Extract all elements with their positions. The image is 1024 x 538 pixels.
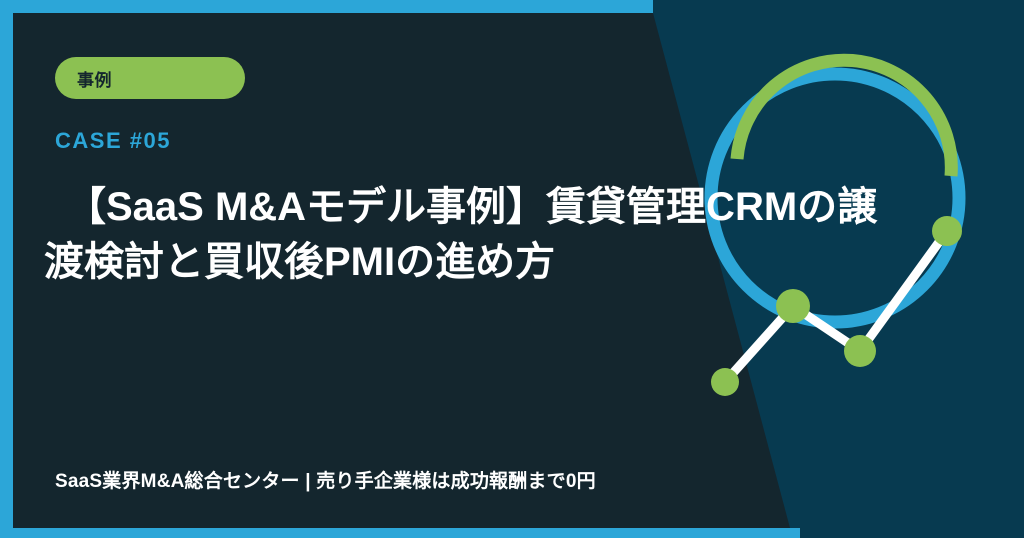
text-content-layer: 事例 CASE #05 【SaaS M&Aモデル事例】賃貸管理CRMの譲渡検討と… <box>0 0 1024 538</box>
page-title: 【SaaS M&Aモデル事例】賃貸管理CRMの譲渡検討と買収後PMIの進め方 <box>44 180 884 290</box>
category-badge-label: 事例 <box>77 66 112 91</box>
footer-tagline: SaaS業界M&A総合センター | 売り手企業様は成功報酬まで0円 <box>55 466 596 493</box>
slide-canvas: 事例 CASE #05 【SaaS M&Aモデル事例】賃貸管理CRMの譲渡検討と… <box>0 0 1024 538</box>
category-badge: 事例 <box>55 57 245 99</box>
case-number-label: CASE #05 <box>55 128 171 154</box>
